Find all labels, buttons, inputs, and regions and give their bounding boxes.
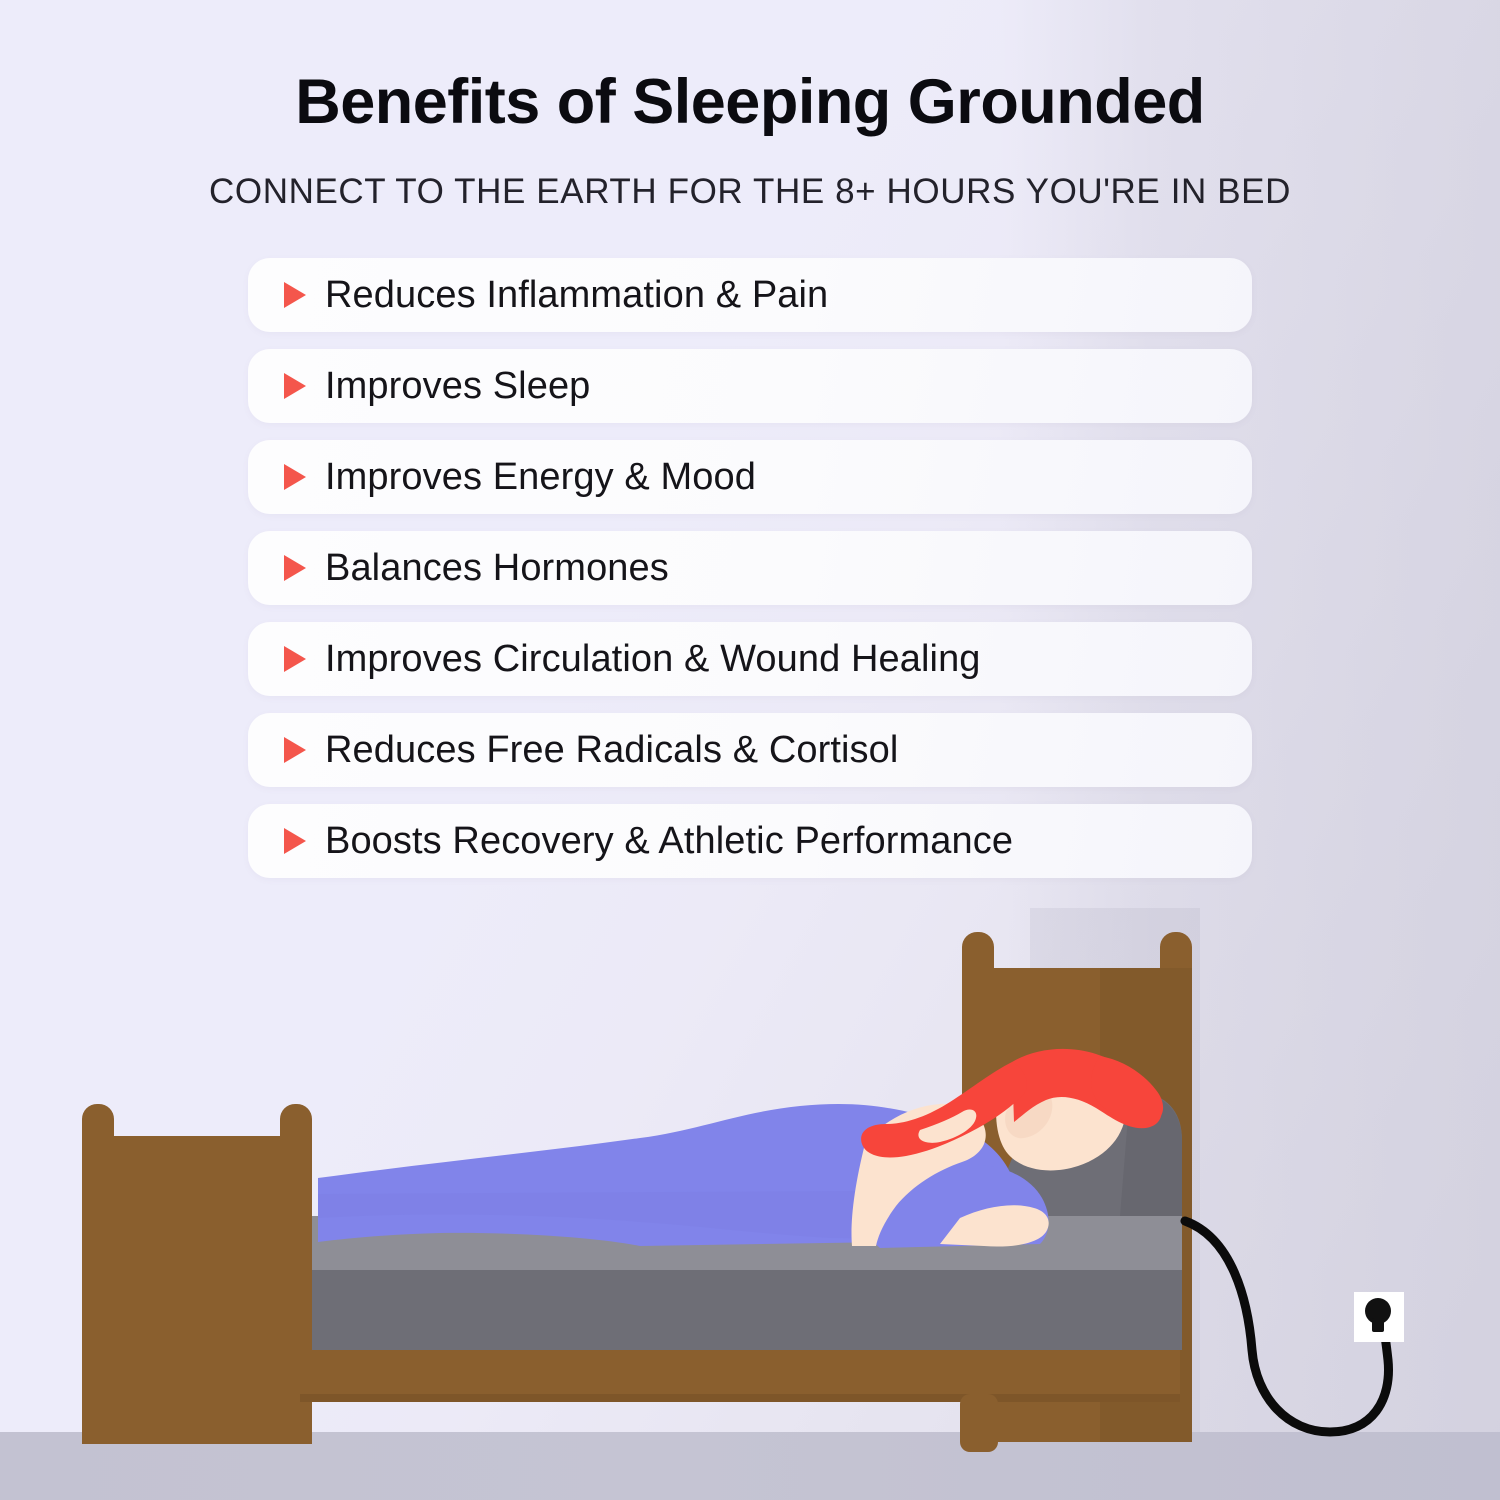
wall-outlet <box>1354 1292 1404 1342</box>
bed-illustration <box>0 0 1500 1500</box>
infographic-root: Benefits of Sleeping Grounded CONNECT TO… <box>0 0 1500 1500</box>
footboard <box>82 1104 312 1444</box>
